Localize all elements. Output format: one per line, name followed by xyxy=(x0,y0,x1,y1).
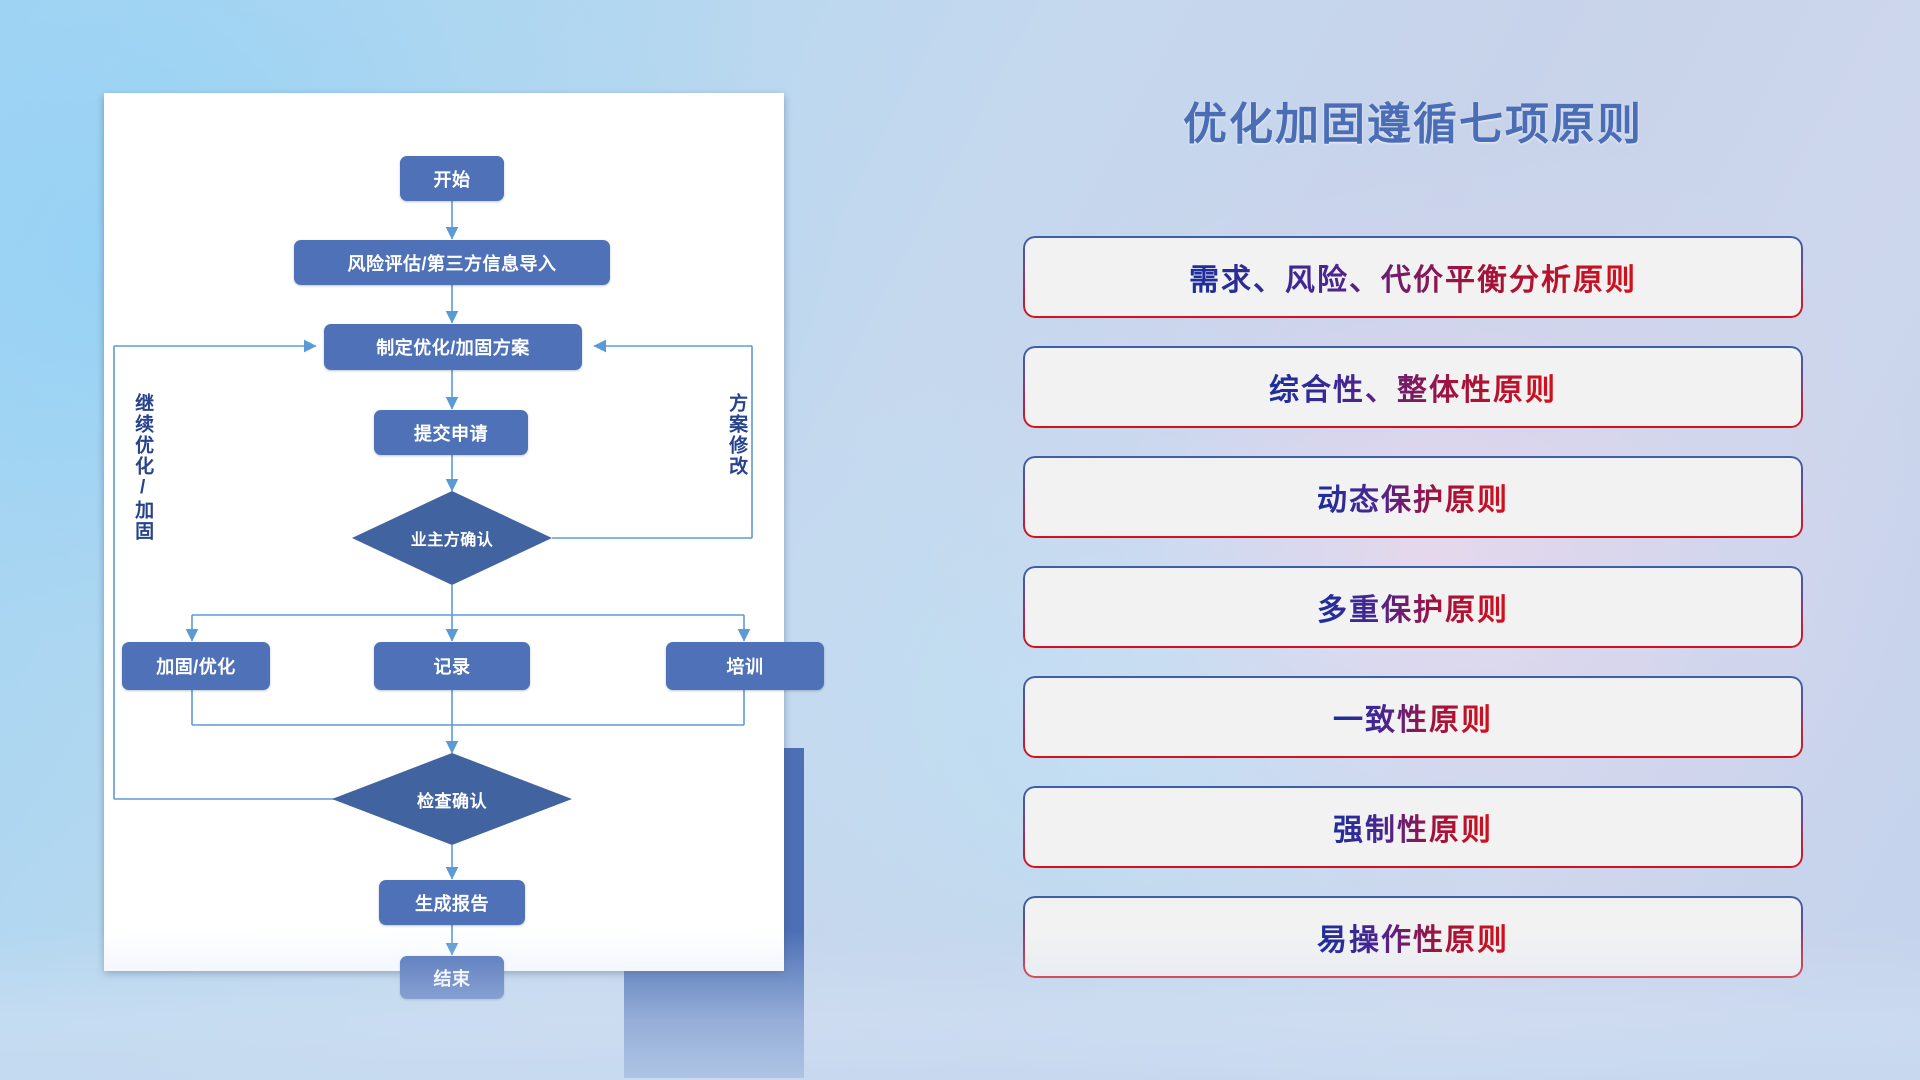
node-reinforce-optimize[interactable]: 加固/优化 xyxy=(122,642,270,690)
principle-item-4[interactable]: 多重保护原则 xyxy=(1025,568,1801,646)
node-generate-report-label: 生成报告 xyxy=(415,890,489,916)
node-risk-assessment[interactable]: 风险评估/第三方信息导入 xyxy=(294,240,610,285)
node-training-label: 培训 xyxy=(727,653,764,679)
principle-item-6-label: 强制性原则 xyxy=(1333,805,1493,849)
principle-item-6[interactable]: 强制性原则 xyxy=(1025,788,1801,866)
node-end-label: 结束 xyxy=(434,965,471,991)
node-final-check-label: 检查确认 xyxy=(417,787,487,812)
principle-item-2[interactable]: 综合性、整体性原则 xyxy=(1025,348,1801,426)
principle-item-4-label: 多重保护原则 xyxy=(1317,585,1509,629)
principle-item-7[interactable]: 易操作性原则 xyxy=(1025,898,1801,976)
principles-panel: 优化加固遵循七项原则 需求、风险、代价平衡分析原则 综合性、整体性原则 动态保护… xyxy=(1025,100,1801,151)
principle-item-3-label: 动态保护原则 xyxy=(1317,475,1509,519)
node-start[interactable]: 开始 xyxy=(400,156,504,201)
node-generate-report[interactable]: 生成报告 xyxy=(379,880,525,925)
principle-item-1[interactable]: 需求、风险、代价平衡分析原则 xyxy=(1025,238,1801,316)
node-record-label: 记录 xyxy=(434,653,471,679)
node-start-label: 开始 xyxy=(434,166,471,192)
principle-item-2-label: 综合性、整体性原则 xyxy=(1269,365,1557,409)
slide-canvas: 业主方确认 检查确认 开始 风险评估/第三方信息导入 制定优化/加固方案 提交申… xyxy=(0,0,1920,1080)
node-make-plan-label: 制定优化/加固方案 xyxy=(376,334,530,360)
node-final-check[interactable]: 检查确认 xyxy=(382,782,522,816)
node-record[interactable]: 记录 xyxy=(374,642,530,690)
node-make-plan[interactable]: 制定优化/加固方案 xyxy=(324,324,582,370)
principle-item-1-label: 需求、风险、代价平衡分析原则 xyxy=(1189,255,1637,299)
principles-list: 需求、风险、代价平衡分析原则 综合性、整体性原则 动态保护原则 多重保护原则 一… xyxy=(1025,238,1801,1008)
edge-label-continue-optimize: 继续优化/加固 xyxy=(132,393,152,573)
node-training[interactable]: 培训 xyxy=(666,642,824,690)
principle-item-7-label: 易操作性原则 xyxy=(1317,915,1509,959)
node-risk-assessment-label: 风险评估/第三方信息导入 xyxy=(348,250,557,276)
flowchart-panel: 业主方确认 检查确认 开始 风险评估/第三方信息导入 制定优化/加固方案 提交申… xyxy=(104,93,784,971)
node-submit-application-label: 提交申请 xyxy=(414,420,488,446)
node-owner-confirm[interactable]: 业主方确认 xyxy=(382,521,522,555)
node-end[interactable]: 结束 xyxy=(400,956,504,999)
node-reinforce-optimize-label: 加固/优化 xyxy=(156,653,236,679)
principle-item-3[interactable]: 动态保护原则 xyxy=(1025,458,1801,536)
principles-title: 优化加固遵循七项原则 xyxy=(1025,100,1801,151)
edge-label-plan-revision: 方案修改 xyxy=(726,393,746,523)
node-owner-confirm-label: 业主方确认 xyxy=(411,526,494,550)
node-submit-application[interactable]: 提交申请 xyxy=(374,410,528,455)
principle-item-5[interactable]: 一致性原则 xyxy=(1025,678,1801,756)
principle-item-5-label: 一致性原则 xyxy=(1333,695,1493,739)
